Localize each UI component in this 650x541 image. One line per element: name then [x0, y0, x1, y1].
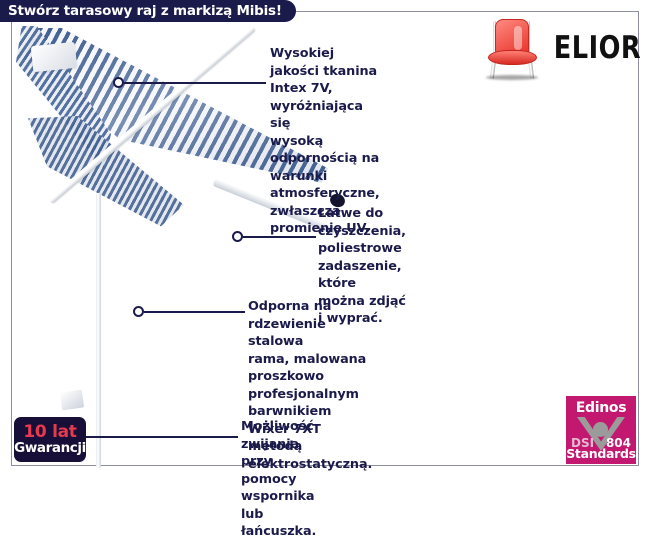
chair-shadow — [486, 75, 538, 80]
arm-bracket — [60, 390, 84, 411]
page-title: Stwórz tarasowy raj z markizą Mibis! — [8, 3, 282, 19]
chair-highlight — [514, 26, 522, 50]
callout-leader-line — [144, 311, 245, 313]
warranty-years: 10 lat — [23, 423, 76, 441]
callout-text-crank: Możliwość zwijania przy pomocy wspornika… — [241, 418, 316, 541]
edinos-brand: Edinos — [566, 400, 636, 416]
product-infographic: Stwórz tarasowy raj z markizą Mibis! Wys… — [0, 0, 650, 477]
wall-post — [96, 193, 101, 468]
callout-leader-line — [243, 236, 316, 238]
callout-marker-dot — [232, 231, 243, 242]
checkmark-dot-icon — [593, 422, 608, 437]
edinos-standards-badge: Edinos DSI 804 Standards — [566, 396, 636, 464]
awning-cassette — [31, 42, 77, 72]
brand-name: ELIOR — [554, 30, 641, 66]
warranty-label: Gwarancji — [14, 441, 86, 456]
frame-border-right — [638, 11, 639, 466]
callout-leader-line — [124, 82, 266, 84]
callout-marker-dot — [133, 306, 144, 317]
callout-leader-line — [73, 436, 238, 438]
headline-banner: Stwórz tarasowy raj z markizą Mibis! — [0, 0, 296, 22]
chair-seat — [488, 50, 537, 65]
edinos-standards-label: Standards — [566, 446, 636, 461]
red-chair-icon — [482, 17, 542, 79]
warranty-badge: 10 lat Gwarancji — [14, 417, 86, 462]
brand-logo: ELIOR — [482, 14, 632, 82]
callout-marker-dot — [113, 77, 124, 88]
